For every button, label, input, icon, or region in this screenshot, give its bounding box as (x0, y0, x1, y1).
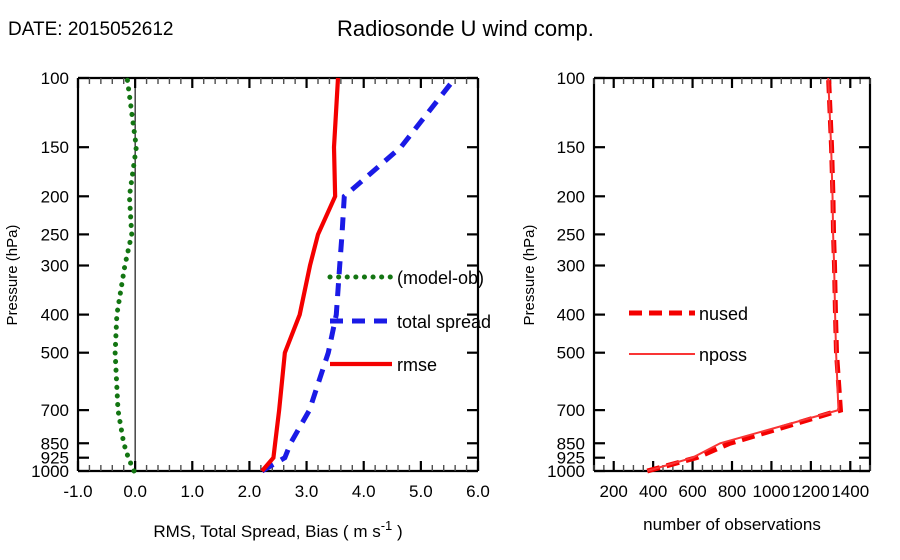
y-tick-label: 150 (557, 138, 585, 157)
x-axis-title: RMS, Total Spread, Bias ( m s-1 ) (153, 518, 402, 541)
series-nused (647, 78, 840, 471)
series-rmse (262, 78, 338, 471)
y-tick-label: 100 (557, 69, 585, 88)
x-tick-label: 600 (678, 482, 706, 501)
x-tick-label: 2.0 (238, 482, 262, 501)
x-axis-title: number of observations (643, 515, 821, 534)
y-tick-label: 150 (41, 138, 69, 157)
y-tick-label: 200 (557, 187, 585, 206)
x-tick-label: 0.0 (123, 482, 147, 501)
legend-label-total-spread: total spread (397, 312, 491, 332)
y-axis-title: Pressure (hPa) (4, 225, 21, 326)
x-tick-label: 1200 (792, 482, 830, 501)
x-tick-label: 400 (639, 482, 667, 501)
x-tick-label: 800 (718, 482, 746, 501)
series--model-ob- (115, 78, 136, 471)
x-axis-title-exponent: -1 (381, 518, 393, 533)
y-tick-label: 100 (41, 69, 69, 88)
x-tick-label: 200 (600, 482, 628, 501)
y-tick-label: 400 (41, 306, 69, 325)
y-tick-label: 200 (41, 187, 69, 206)
y-tick-label: 500 (557, 344, 585, 363)
y-tick-label: 1000 (31, 462, 69, 481)
legend-label-nposs: nposs (699, 345, 747, 365)
legend-label-nused: nused (699, 304, 748, 324)
y-tick-label: 700 (557, 401, 585, 420)
y-tick-label: 1000 (547, 462, 585, 481)
y-tick-label: 500 (41, 344, 69, 363)
left-panel: -1.00.01.02.03.04.05.06.0100150200250300… (4, 69, 491, 541)
page-title: Radiosonde U wind comp. (337, 16, 594, 42)
x-tick-label: 1400 (831, 482, 869, 501)
chart-svg: -1.00.01.02.03.04.05.06.0100150200250300… (0, 0, 900, 560)
x-tick-label: -1.0 (63, 482, 92, 501)
y-axis-title: Pressure (hPa) (521, 225, 538, 326)
x-tick-label: 1.0 (180, 482, 204, 501)
y-tick-label: 250 (41, 225, 69, 244)
date-label: DATE: 2015052612 (8, 19, 174, 41)
legend-label--model-ob-: (model-ob) (397, 268, 484, 288)
x-tick-label: 3.0 (295, 482, 319, 501)
y-tick-label: 300 (557, 257, 585, 276)
x-axis-title-tail: ) (392, 522, 402, 541)
x-tick-label: 4.0 (352, 482, 376, 501)
x-tick-label: 5.0 (409, 482, 433, 501)
y-tick-label: 400 (557, 306, 585, 325)
series-nposs (647, 78, 838, 471)
y-tick-label: 700 (41, 401, 69, 420)
x-tick-label: 6.0 (466, 482, 490, 501)
y-tick-label: 250 (557, 225, 585, 244)
legend-label-rmse: rmse (397, 355, 437, 375)
figure-canvas: DATE: 2015052612 Radiosonde U wind comp.… (0, 0, 900, 560)
x-tick-label: 1000 (753, 482, 791, 501)
right-panel: 2004006008001000120014001001502002503004… (521, 69, 870, 534)
x-axis-title-main: RMS, Total Spread, Bias ( m s (153, 522, 380, 541)
y-tick-label: 300 (41, 257, 69, 276)
